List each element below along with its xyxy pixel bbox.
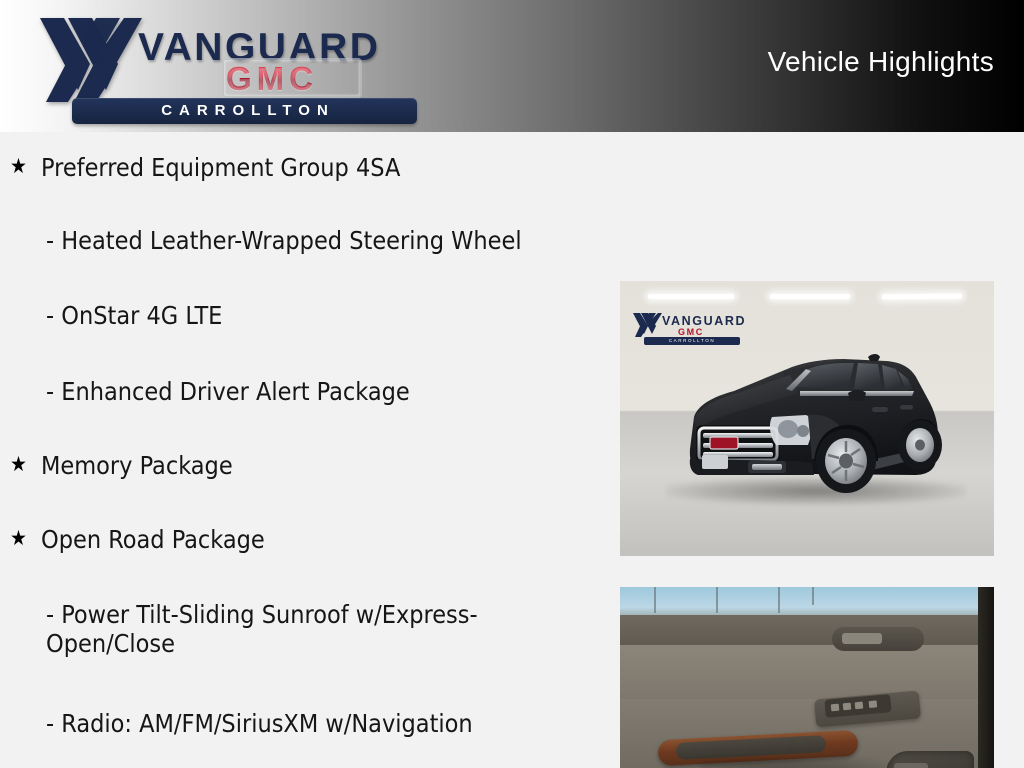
feature-bullet-item: ★Memory Package xyxy=(0,451,600,480)
vanguard-chevron-mark-icon xyxy=(38,14,143,106)
dealership-logo: VANGUARD GMC CARROLLTON xyxy=(30,6,400,126)
door-shadow-overlay xyxy=(700,759,910,768)
star-bullet-icon: ★ xyxy=(10,525,41,552)
interior-door-release-handle xyxy=(832,627,924,651)
feature-text: - OnStar 4G LTE xyxy=(44,301,560,330)
ceiling-light-icon xyxy=(648,294,734,299)
vehicle-interior-photo xyxy=(620,587,994,768)
feature-sub-item: - OnStar 4G LTE xyxy=(0,301,560,330)
showroom-background: VANGUARD GMC CARROLLTON xyxy=(620,281,994,556)
feature-text: - Power Tilt-Sliding Sunroof w/Express-O… xyxy=(44,600,560,658)
door-edge-dark xyxy=(978,587,994,768)
logo-make-text: GMC xyxy=(226,62,318,95)
feature-sub-item: - Power Tilt-Sliding Sunroof w/Express-O… xyxy=(0,600,560,658)
slide-header: VANGUARD GMC CARROLLTON Vehicle Highligh… xyxy=(0,0,1024,132)
logo-location-bar: CARROLLTON xyxy=(72,98,417,124)
feature-text: - Heated Leather-Wrapped Steering Wheel xyxy=(44,226,560,255)
gmc-yukon-illustration xyxy=(672,321,972,521)
feature-text: Open Road Package xyxy=(41,525,600,554)
star-bullet-icon: ★ xyxy=(10,451,41,478)
feature-bullet-item: ★Open Road Package xyxy=(0,525,600,554)
ceiling-light-icon xyxy=(882,294,962,300)
slide-body: ★Preferred Equipment Group 4SA- Heated L… xyxy=(0,132,1024,768)
feature-sub-item: - Heated Leather-Wrapped Steering Wheel xyxy=(0,226,560,255)
feature-text: Preferred Equipment Group 4SA xyxy=(41,153,600,182)
vehicle-highlights-slide: VANGUARD GMC CARROLLTON Vehicle Highligh… xyxy=(0,0,1024,768)
feature-text: - Radio: AM/FM/SiriusXM w/Navigation xyxy=(44,709,560,738)
ceiling-light-icon xyxy=(770,294,850,299)
feature-text: - Enhanced Driver Alert Package xyxy=(44,377,560,406)
feature-bullet-item: ★Preferred Equipment Group 4SA xyxy=(0,153,600,182)
door-panel-background xyxy=(620,587,994,768)
page-title: Vehicle Highlights xyxy=(768,46,994,78)
logo-location-text: CARROLLTON xyxy=(72,98,417,124)
wall-chevron-mark-icon xyxy=(632,312,662,338)
feature-text: Memory Package xyxy=(41,451,600,480)
feature-sub-item: - Radio: AM/FM/SiriusXM w/Navigation xyxy=(0,709,560,738)
feature-sub-item: - Enhanced Driver Alert Package xyxy=(0,377,560,406)
star-bullet-icon: ★ xyxy=(10,153,41,180)
vehicle-exterior-photo: VANGUARD GMC CARROLLTON xyxy=(620,281,994,556)
